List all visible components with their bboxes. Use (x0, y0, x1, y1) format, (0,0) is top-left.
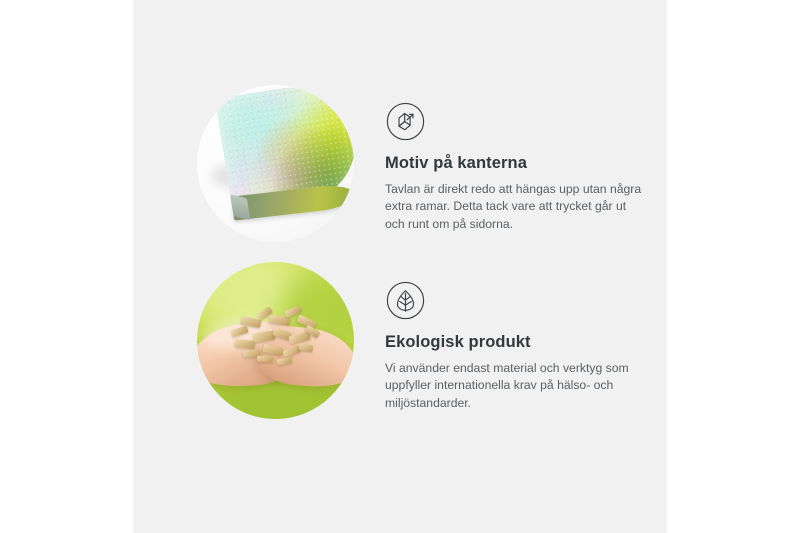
feature-title: Motiv på kanterna (385, 154, 667, 174)
wrapped-canvas-edge-icon (385, 101, 426, 142)
promo-banner: Motiv på kanterna Tavlan är direkt redo … (0, 0, 800, 533)
canvas-print-corner-photo (197, 85, 354, 242)
wood-chips-pile (227, 306, 327, 364)
leaf-icon (385, 280, 426, 321)
feature-description: Vi använder endast material och verktyg … (385, 360, 647, 413)
eco-photo-scene (197, 262, 354, 419)
canvas-photo-scene (197, 85, 354, 242)
hands-holding-wood-chips-photo (197, 262, 354, 419)
canvas-block (215, 85, 354, 237)
feature-text-eco: Ekologisk produkt Vi använder endast mat… (385, 280, 667, 413)
feature-description: Tavlan är direkt redo att hängas upp uta… (385, 181, 647, 234)
feature-text-edges: Motiv på kanterna Tavlan är direkt redo … (385, 101, 667, 234)
feature-title: Ekologisk produkt (385, 333, 667, 353)
